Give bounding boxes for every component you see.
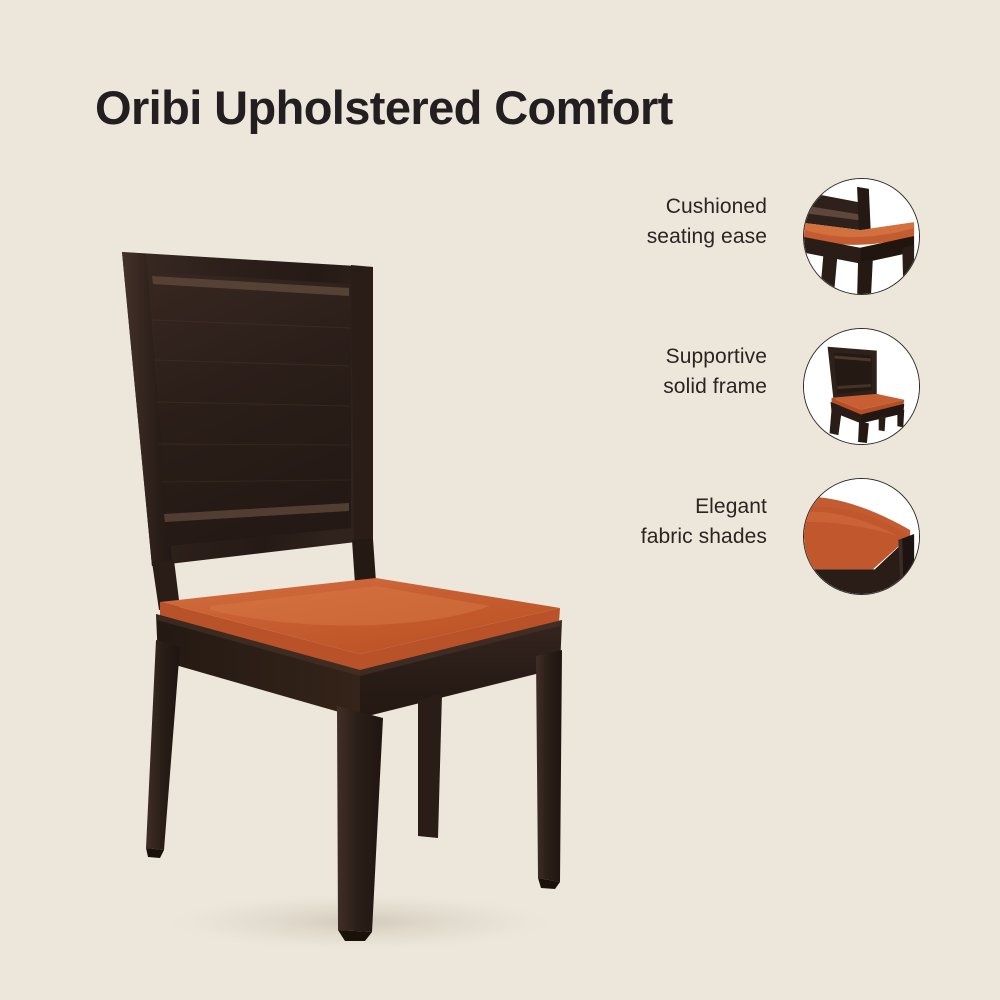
thumb-cushioned-seat[interactable] — [803, 178, 920, 295]
product-image-main — [60, 210, 640, 970]
feature-label-supportive: Supportive solid frame — [587, 342, 767, 402]
leg-front-right — [536, 650, 562, 882]
full-chair-icon — [804, 329, 919, 444]
feature-line-1: Supportive — [666, 345, 767, 368]
feature-line-1: Elegant — [695, 495, 767, 518]
feature-line-2: seating ease — [587, 222, 767, 252]
chair-backrest — [122, 252, 373, 566]
feature-label-cushioned: Cushioned seating ease — [587, 192, 767, 252]
thumb-solid-frame[interactable] — [803, 328, 920, 445]
seat-closeup-icon — [804, 179, 919, 294]
feature-line-2: solid frame — [587, 372, 767, 402]
fabric-closeup-icon — [804, 479, 919, 594]
feature-label-elegant: Elegant fabric shades — [587, 492, 767, 552]
page-title: Oribi Upholstered Comfort — [95, 80, 673, 135]
feature-list: Cushioned seating ease — [600, 172, 930, 622]
infographic-canvas: Oribi Upholstered Comfort — [0, 0, 1000, 1000]
feature-item-elegant: Elegant fabric shades — [600, 472, 930, 622]
feature-item-cushioned: Cushioned seating ease — [600, 172, 930, 322]
feature-item-supportive: Supportive solid frame — [600, 322, 930, 472]
leg-rear-right — [418, 694, 442, 838]
feature-line-1: Cushioned — [666, 195, 767, 218]
leg-rear-left — [146, 640, 180, 850]
feature-line-2: fabric shades — [587, 522, 767, 552]
thumb-fabric-shades[interactable] — [803, 478, 920, 595]
